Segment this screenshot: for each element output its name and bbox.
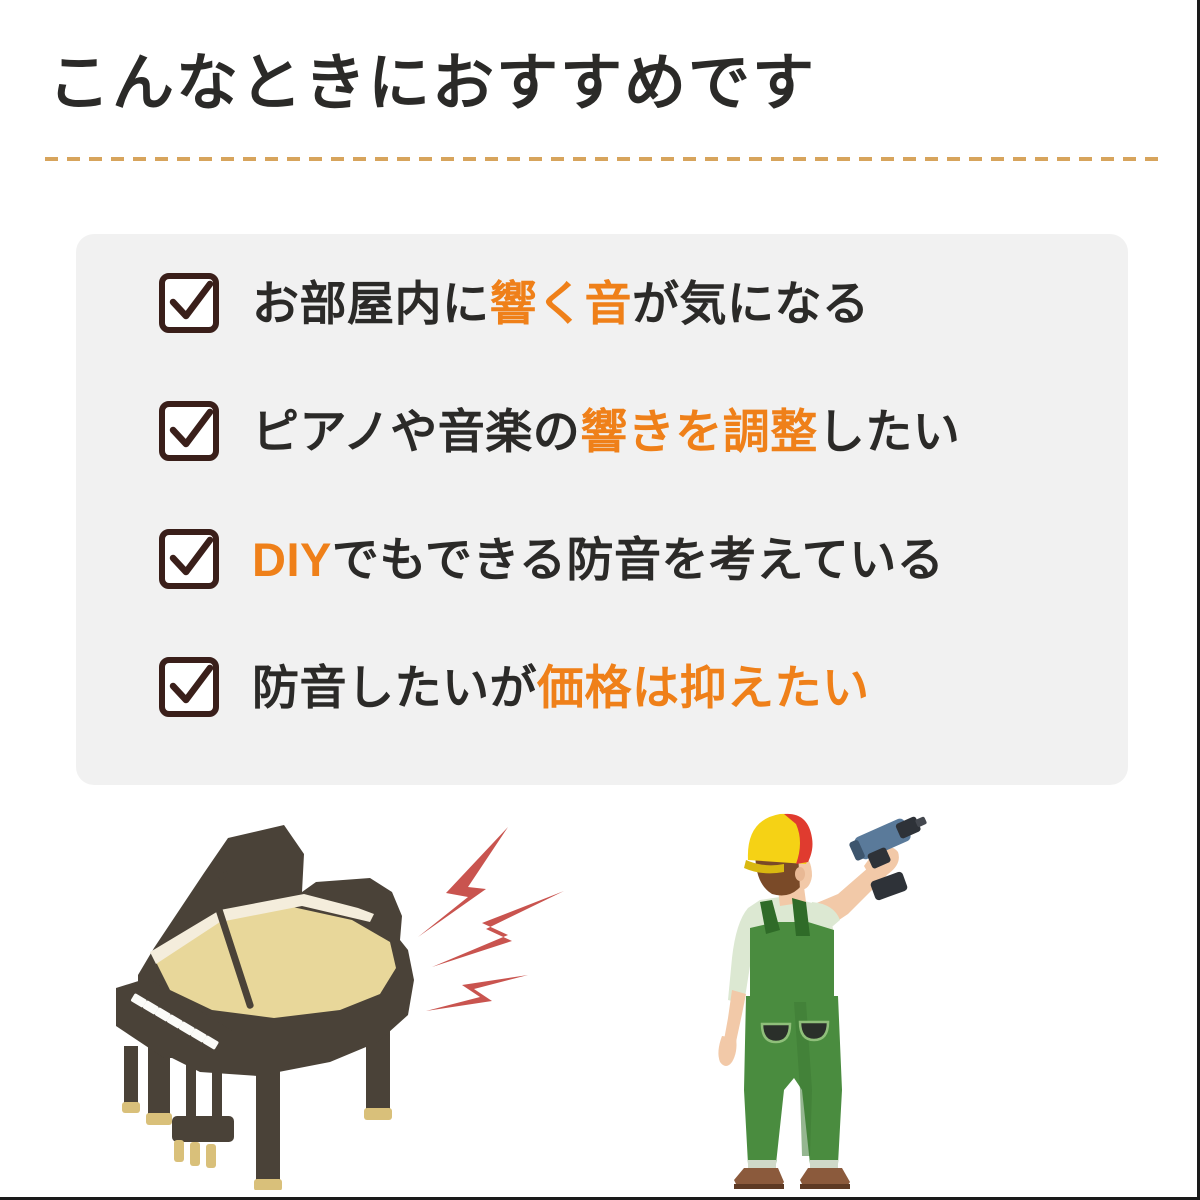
label-part-plain: でもできる防音を考えている [332, 533, 944, 586]
list-item: 防音したいが価格は抑えたい [158, 650, 870, 724]
label-part-plain: お部屋内に [252, 277, 490, 330]
grand-piano-illustration [108, 810, 448, 1190]
checkbox-checked-icon [158, 656, 220, 718]
list-item: お部屋内に響く音が気になる [158, 266, 870, 340]
list-item: DIYでもできる防音を考えている [158, 522, 944, 596]
checkbox-checked-icon [158, 528, 220, 590]
list-item: ピアノや音楽の響きを調整したい [158, 394, 960, 468]
label-part-highlight: DIY [252, 533, 332, 586]
checkbox-checked-icon [158, 400, 220, 462]
list-item-label: 防音したいが価格は抑えたい [252, 664, 870, 711]
label-part-plain: ピアノや音楽の [252, 405, 580, 458]
label-part-plain: が気になる [632, 277, 870, 330]
checklist-card: お部屋内に響く音が気になる ピアノや音楽の響きを調整したい DIYでもできる防音… [76, 234, 1128, 785]
label-part-highlight: 価格は抑えたい [537, 661, 870, 714]
infographic-page: こんなときにおすすめです お部屋内に響く音が気になる ピアノや音楽の響きを調整し… [0, 0, 1200, 1200]
label-part-highlight: 響きを調整 [580, 405, 818, 458]
diy-worker-with-drill-illustration [688, 790, 928, 1190]
list-item-label: ピアノや音楽の響きを調整したい [252, 408, 960, 455]
loud-sound-bolts-illustration [412, 815, 592, 1025]
page-title: こんなときにおすすめです [48, 50, 816, 118]
label-part-highlight: 響く音 [490, 277, 633, 330]
label-part-plain: 防音したいが [252, 661, 537, 714]
list-item-label: お部屋内に響く音が気になる [252, 280, 870, 327]
list-item-label: DIYでもできる防音を考えている [252, 536, 944, 583]
checkbox-checked-icon [158, 272, 220, 334]
dashed-divider [45, 157, 1160, 161]
illustration-strip [0, 790, 1200, 1200]
label-part-plain: したい [818, 405, 961, 458]
